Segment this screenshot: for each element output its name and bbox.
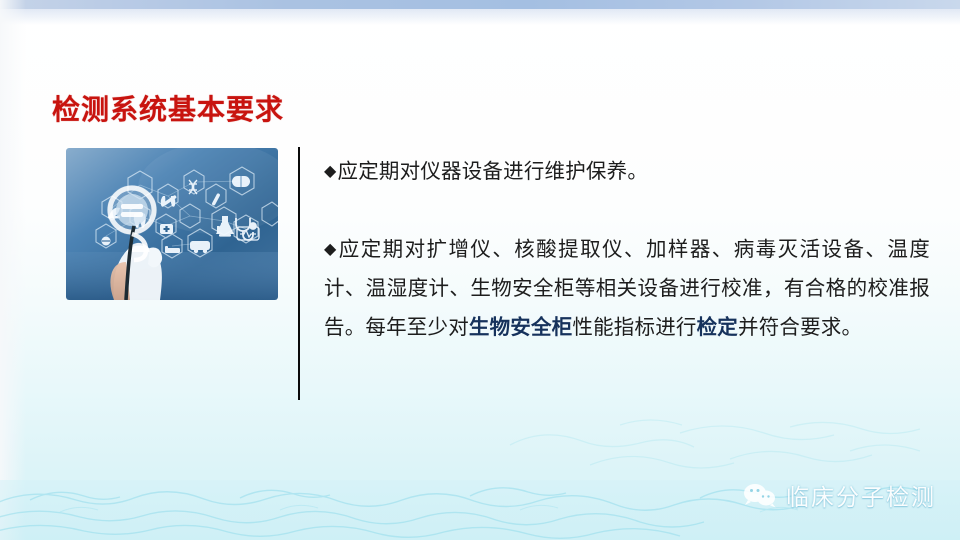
vertical-divider	[298, 147, 300, 400]
bullet-diamond-icon: ◆	[324, 163, 337, 180]
content-body: ◆应定期对仪器设备进行维护保养。 ◆应定期对扩增仪、核酸提取仪、加样器、病毒灭活…	[324, 152, 930, 347]
watermark-label: 临床分子检测	[786, 478, 936, 512]
paragraph-2-text-part-3: 并符合要求。	[738, 316, 862, 339]
bullet-paragraph-2: ◆应定期对扩增仪、核酸提取仪、加样器、病毒灭活设备、温度计、温湿度计、生物安全柜…	[324, 230, 930, 347]
top-accent-strip	[0, 0, 960, 9]
slide-canvas: 检测系统基本要求	[0, 0, 960, 540]
medical-technology-photo	[66, 148, 278, 300]
left-edge-band	[0, 0, 26, 540]
wechat-icon	[743, 482, 777, 508]
highlight-verification: 检定	[697, 316, 738, 339]
bullet-diamond-icon: ◆	[324, 241, 338, 258]
page-title: 检测系统基本要求	[52, 88, 284, 128]
paragraph-1-text: 应定期对仪器设备进行维护保养。	[338, 160, 649, 183]
highlight-biosafety-cabinet: 生物安全柜	[469, 316, 573, 339]
paragraph-2-text-part-2: 性能指标进行	[572, 316, 696, 339]
photo-contents	[66, 148, 278, 300]
top-accent-fade	[0, 9, 960, 25]
watermark: 临床分子检测	[743, 478, 936, 512]
bullet-paragraph-1: ◆应定期对仪器设备进行维护保养。	[324, 152, 930, 191]
